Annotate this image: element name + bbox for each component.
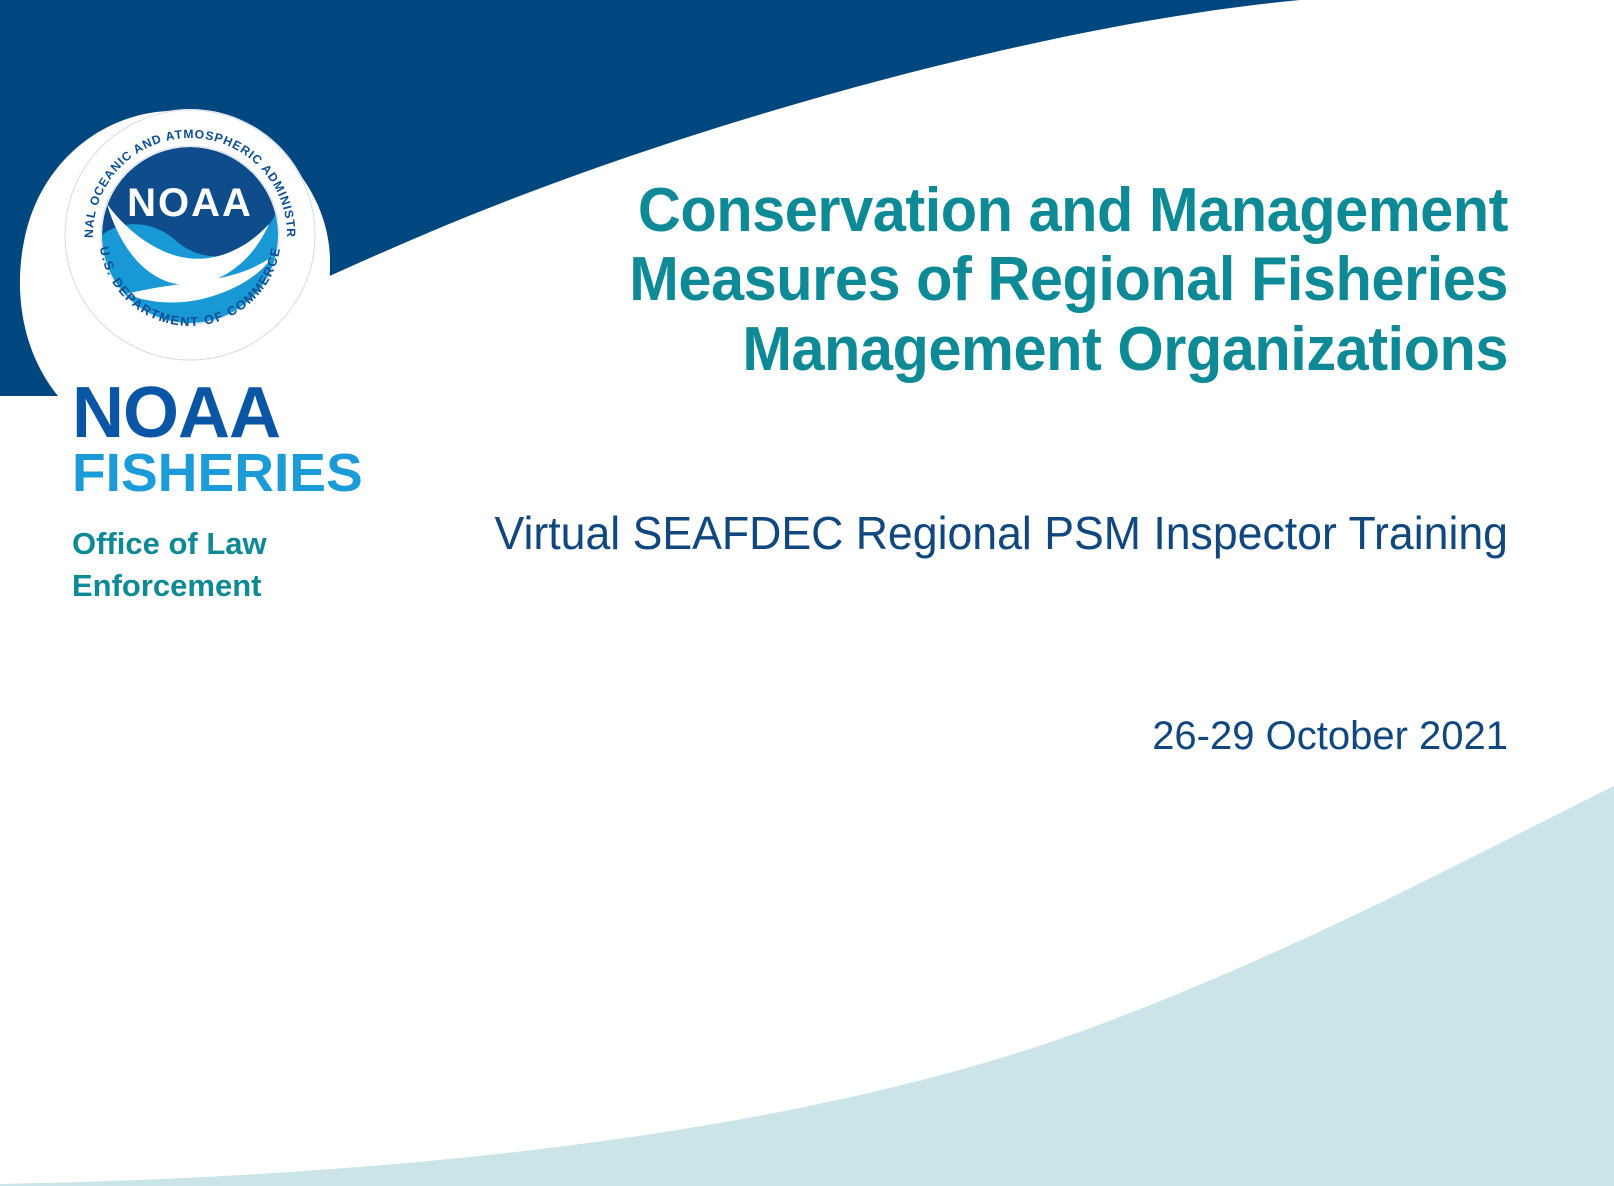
page-date: 26-29 October 2021 bbox=[430, 562, 1508, 760]
slide-canvas: NOAA NATIONAL OCEANIC AND ATMOSPHERIC AD… bbox=[0, 0, 1614, 1186]
page-subtitle: Virtual SEAFDEC Regional PSM Inspector T… bbox=[462, 384, 1508, 561]
noaa-seal-icon: NOAA NATIONAL OCEANIC AND ATMOSPHERIC AD… bbox=[63, 108, 317, 362]
svg-text:NOAA: NOAA bbox=[127, 181, 253, 225]
slide-text-column: Conservation and Management Measures of … bbox=[430, 0, 1508, 760]
teal-swoosh-shape bbox=[0, 786, 1614, 1186]
page-title-line-1: Conservation and Management bbox=[638, 176, 1508, 245]
wordmark-office-text: Office of Law Enforcement bbox=[72, 523, 287, 605]
wordmark-noaa-text: NOAA bbox=[72, 380, 372, 446]
page-title-line-3: Management Organizations bbox=[742, 315, 1508, 384]
page-title-line-2: Measures of Regional Fisheries bbox=[629, 245, 1508, 314]
page-title: Conservation and Management Measures of … bbox=[473, 0, 1508, 384]
wordmark-fisheries-text: FISHERIES bbox=[72, 446, 378, 501]
noaa-seal: NOAA NATIONAL OCEANIC AND ATMOSPHERIC AD… bbox=[63, 108, 317, 362]
noaa-fisheries-wordmark: NOAA FISHERIES Office of Law Enforcement bbox=[72, 380, 372, 606]
